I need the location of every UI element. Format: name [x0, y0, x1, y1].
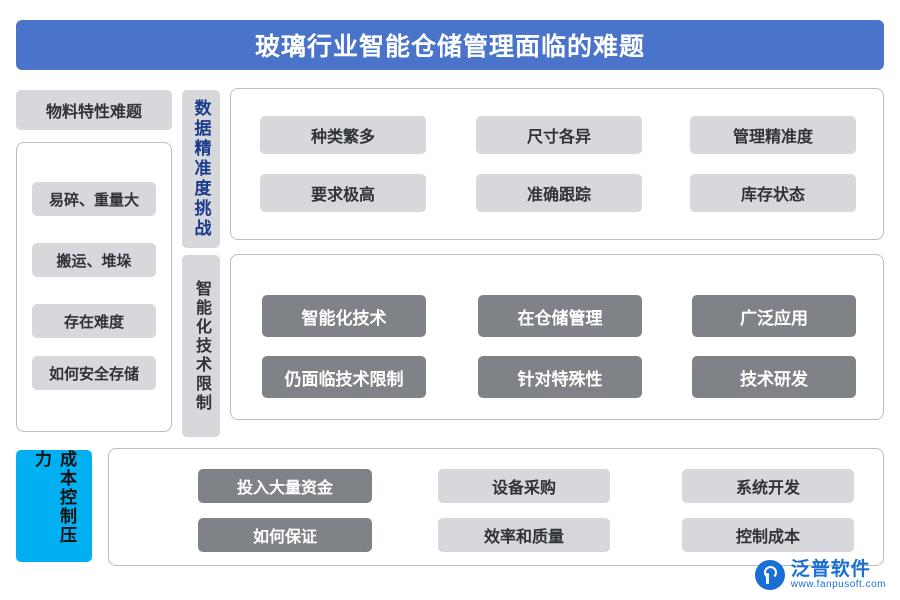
section-label-cost-pressure: 成本控制压力	[16, 450, 92, 562]
item-data-accuracy-r1c1: 准确跟踪	[476, 174, 642, 212]
item-cost-pressure-r0c0: 投入大量资金	[198, 469, 372, 503]
item-cost-pressure-r1c2: 控制成本	[682, 518, 854, 552]
item-data-accuracy-r0c2: 管理精准度	[690, 116, 856, 154]
item-tech-limits-r0c0: 智能化技术	[262, 295, 426, 337]
left-item-2: 存在难度	[32, 304, 156, 338]
left-item-0: 易碎、重量大	[32, 182, 156, 216]
item-cost-pressure-r0c2: 系统开发	[682, 469, 854, 503]
magnifier-icon	[755, 560, 785, 590]
item-tech-limits-r0c2: 广泛应用	[692, 295, 856, 337]
item-tech-limits-r1c0: 仍面临技术限制	[262, 356, 426, 398]
item-data-accuracy-r1c0: 要求极高	[260, 174, 426, 212]
item-cost-pressure-r1c0: 如何保证	[198, 518, 372, 552]
section-label-tech-limits: 智能化技术限制	[182, 255, 220, 437]
item-cost-pressure-r1c1: 效率和质量	[438, 518, 610, 552]
left-column-header: 物料特性难题	[16, 90, 172, 130]
left-item-1: 搬运、堆垛	[32, 243, 156, 277]
section-panel-data-accuracy	[230, 88, 884, 240]
item-data-accuracy-r0c1: 尺寸各异	[476, 116, 642, 154]
brand-logo-text: 泛普软件 www.fanpusoft.com	[791, 560, 886, 590]
item-data-accuracy-r1c2: 库存状态	[690, 174, 856, 212]
page-title: 玻璃行业智能仓储管理面临的难题	[255, 27, 645, 63]
item-data-accuracy-r0c0: 种类繁多	[260, 116, 426, 154]
brand-name-cn: 泛普软件	[791, 560, 886, 580]
brand-logo: 泛普软件 www.fanpusoft.com	[755, 560, 886, 590]
item-cost-pressure-r0c1: 设备采购	[438, 469, 610, 503]
diagram-canvas: 玻璃行业智能仓储管理面临的难题 泛普 物料特性难题 易碎、重量大 搬运、堆垛 存…	[0, 0, 900, 600]
page-title-bar: 玻璃行业智能仓储管理面临的难题	[16, 20, 884, 70]
item-tech-limits-r1c1: 针对特殊性	[478, 356, 642, 398]
item-tech-limits-r0c1: 在仓储管理	[478, 295, 642, 337]
section-label-data-accuracy: 数据精准度挑战	[182, 90, 220, 248]
brand-url: www.fanpusoft.com	[791, 580, 886, 591]
left-item-3: 如何安全存储	[32, 356, 156, 390]
item-tech-limits-r1c2: 技术研发	[692, 356, 856, 398]
